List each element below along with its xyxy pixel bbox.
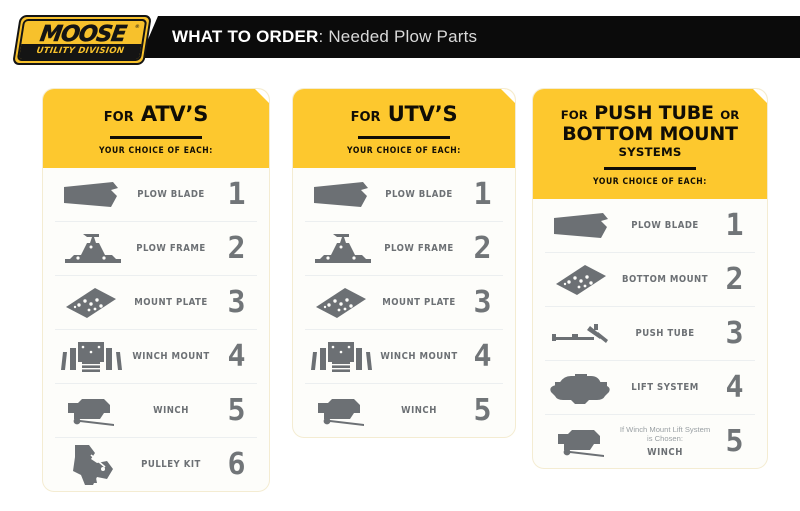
list-item-label: MOUNT PLATE: [377, 297, 461, 309]
push-tube-icon: [545, 320, 617, 348]
list-item-label: PLOW FRAME: [377, 243, 461, 255]
card-utv-title-pre: FOR: [351, 110, 381, 125]
card-atv-subtitle: YOUR CHOICE OF EACH:: [53, 146, 259, 156]
list-item[interactable]: PLOW FRAME 2: [55, 221, 257, 275]
list-item-label: PLOW BLADE: [377, 189, 461, 201]
card-atv-divider: [110, 136, 202, 140]
bottom-mount-icon: [545, 262, 617, 298]
page-title-rest: : Needed Plow Parts: [318, 27, 477, 46]
list-item-label: PUSH TUBE: [617, 328, 713, 340]
plow-blade-icon: [55, 179, 127, 211]
list-item-number: 2: [461, 234, 503, 264]
list-item-label: MOUNT PLATE: [127, 297, 215, 309]
list-item[interactable]: LIFT SYSTEM 4: [545, 360, 755, 414]
card-atv-rows: PLOW BLADE 1 PLOW FRAME 2 MOUNT PLATE 3: [43, 168, 269, 491]
list-item-label: PULLEY KIT: [127, 459, 215, 471]
plow-blade-icon: [305, 179, 377, 211]
card-push-tube-title: FOR PUSH TUBE OR BOTTOM MOUNT SYSTEMS: [543, 103, 757, 159]
list-item-label: PLOW FRAME: [127, 243, 215, 255]
moose-logo[interactable]: MOOSE ® UTILITY DIVISION: [12, 15, 152, 65]
list-item-number: 4: [215, 342, 257, 372]
list-item-label-text: WINCH: [647, 447, 683, 458]
card-push-tube-rows: PLOW BLADE 1 BOTTOM MOUNT 2 PUSH TUBE 3: [533, 199, 767, 468]
list-item-note: If Winch Mount Lift System is Chosen:: [617, 425, 713, 444]
winch-mount-icon: [55, 338, 127, 376]
card-push-tube-bottom-mount: FOR PUSH TUBE OR BOTTOM MOUNT SYSTEMS YO…: [532, 88, 768, 469]
list-item[interactable]: If Winch Mount Lift System is Chosen: WI…: [545, 414, 755, 468]
list-item-label: WINCH: [127, 405, 215, 417]
list-item-number: 1: [461, 180, 503, 210]
card-utv-divider: [358, 136, 450, 140]
list-item-number: 5: [215, 396, 257, 426]
list-item-number: 1: [215, 180, 257, 210]
list-item[interactable]: MOUNT PLATE 3: [55, 275, 257, 329]
list-item[interactable]: PLOW BLADE 1: [305, 168, 503, 221]
list-item-number: 4: [713, 373, 755, 403]
card-utv-rows: PLOW BLADE 1 PLOW FRAME 2 MOUNT PLATE 3: [293, 168, 515, 437]
list-item-number: 3: [215, 288, 257, 318]
mount-plate-icon: [55, 285, 127, 321]
winch-icon: [55, 395, 127, 427]
card-push-tube-divider: [604, 167, 696, 171]
list-item-number: 5: [461, 396, 503, 426]
plow-blade-icon: [545, 210, 617, 242]
list-item-number: 4: [461, 342, 503, 372]
list-item[interactable]: WINCH 5: [55, 383, 257, 437]
card-utv-header: FOR UTV’S YOUR CHOICE OF EACH:: [293, 89, 515, 168]
mount-plate-icon: [305, 285, 377, 321]
list-item-label: PLOW BLADE: [617, 220, 713, 232]
page-title: WHAT TO ORDER: Needed Plow Parts: [172, 27, 477, 47]
list-item-label: WINCH: [377, 405, 461, 417]
lift-system-icon: [545, 370, 617, 406]
list-item-label: If Winch Mount Lift System is Chosen: WI…: [617, 425, 713, 459]
list-item-number: 6: [215, 450, 257, 480]
card-push-tube-title-line3: SYSTEMS: [543, 146, 757, 159]
list-item-label: WINCH MOUNT: [127, 351, 215, 363]
list-item-label: WINCH MOUNT: [377, 351, 461, 363]
card-push-tube-header: FOR PUSH TUBE OR BOTTOM MOUNT SYSTEMS YO…: [533, 89, 767, 199]
winch-icon: [545, 426, 617, 458]
page-header: WHAT TO ORDER: Needed Plow Parts MOOSE ®…: [0, 0, 800, 72]
card-utv-title: FOR UTV’S: [303, 103, 505, 127]
logo-tagline: UTILITY DIVISION: [17, 44, 143, 59]
list-item[interactable]: WINCH MOUNT 4: [305, 329, 503, 383]
list-item[interactable]: MOUNT PLATE 3: [305, 275, 503, 329]
list-item[interactable]: WINCH 5: [305, 383, 503, 437]
list-item-label: PLOW BLADE: [127, 189, 215, 201]
list-item[interactable]: PLOW FRAME 2: [305, 221, 503, 275]
card-atv-title-main: ATV’S: [141, 102, 208, 126]
list-item-number: 3: [713, 319, 755, 349]
list-item-number: 3: [461, 288, 503, 318]
list-item-number: 5: [713, 427, 755, 457]
card-push-tube-title-line2: BOTTOM MOUNT: [543, 124, 757, 145]
plow-frame-icon: [305, 232, 377, 266]
list-item[interactable]: PLOW BLADE 1: [55, 168, 257, 221]
list-item-number: 2: [215, 234, 257, 264]
list-item[interactable]: PLOW BLADE 1: [545, 199, 755, 252]
card-push-tube-title-post: OR: [720, 108, 739, 122]
card-utv-subtitle: YOUR CHOICE OF EACH:: [303, 146, 505, 156]
logo-inner-frame: MOOSE ® UTILITY DIVISION: [17, 19, 148, 61]
card-atv: FOR ATV’S YOUR CHOICE OF EACH: PLOW BLAD…: [42, 88, 270, 492]
list-item-number: 2: [713, 265, 755, 295]
winch-mount-icon: [305, 338, 377, 376]
card-push-tube-subtitle: YOUR CHOICE OF EACH:: [543, 177, 757, 187]
list-item[interactable]: WINCH MOUNT 4: [55, 329, 257, 383]
card-atv-header: FOR ATV’S YOUR CHOICE OF EACH:: [43, 89, 269, 168]
card-push-tube-title-main: PUSH TUBE: [594, 102, 714, 124]
list-item[interactable]: BOTTOM MOUNT 2: [545, 252, 755, 306]
card-push-tube-title-pre: FOR: [561, 108, 588, 122]
list-item-label: BOTTOM MOUNT: [617, 274, 713, 286]
list-item-number: 1: [713, 211, 755, 241]
list-item-label: LIFT SYSTEM: [617, 382, 713, 394]
card-utv-title-main: UTV’S: [388, 102, 458, 126]
pulley-kit-icon: [55, 443, 127, 487]
card-atv-title: FOR ATV’S: [53, 103, 259, 127]
winch-icon: [305, 395, 377, 427]
card-atv-title-pre: FOR: [104, 110, 134, 125]
card-utv: FOR UTV’S YOUR CHOICE OF EACH: PLOW BLAD…: [292, 88, 516, 438]
page-title-strong: WHAT TO ORDER: [172, 27, 318, 46]
list-item[interactable]: PULLEY KIT 6: [55, 437, 257, 491]
list-item[interactable]: PUSH TUBE 3: [545, 306, 755, 360]
plow-frame-icon: [55, 232, 127, 266]
